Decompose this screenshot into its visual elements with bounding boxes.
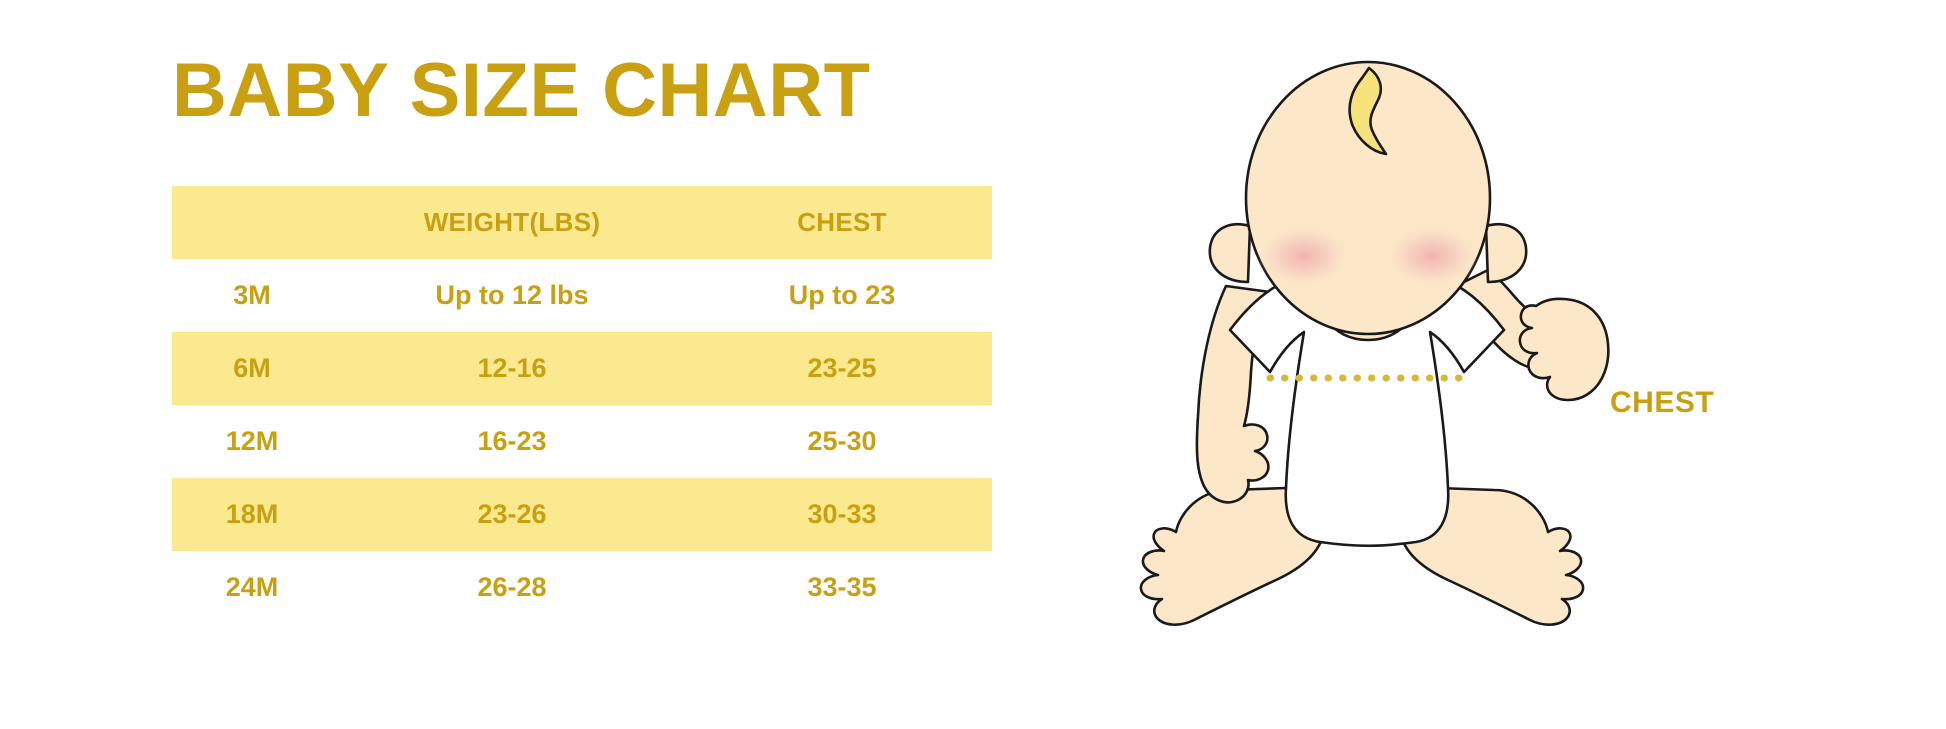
table-row: 12M 16-23 25-30 xyxy=(172,405,992,478)
illustration-panel: CHEST xyxy=(1080,0,1780,729)
header-weight: WEIGHT(LBS) xyxy=(332,186,692,259)
left-blush xyxy=(1256,224,1352,288)
header-chest: CHEST xyxy=(692,186,992,259)
right-fist xyxy=(1520,299,1608,400)
cell-age: 24M xyxy=(172,551,332,624)
size-chart-page: BABY SIZE CHART WEIGHT(LBS) CHEST 3M Up … xyxy=(0,0,1946,729)
table-header-row: WEIGHT(LBS) CHEST xyxy=(172,186,992,259)
header-age xyxy=(172,186,332,259)
cell-chest: Up to 23 xyxy=(692,259,992,332)
cell-chest: 33-35 xyxy=(692,551,992,624)
left-ear xyxy=(1210,224,1250,282)
cell-weight: Up to 12 lbs xyxy=(332,259,692,332)
cell-age: 12M xyxy=(172,405,332,478)
chart-panel: BABY SIZE CHART WEIGHT(LBS) CHEST 3M Up … xyxy=(0,0,1000,729)
cell-chest: 23-25 xyxy=(692,332,992,405)
cell-age: 18M xyxy=(172,478,332,551)
cell-age: 6M xyxy=(172,332,332,405)
right-ear xyxy=(1486,224,1526,282)
cell-weight: 16-23 xyxy=(332,405,692,478)
page-title: BABY SIZE CHART xyxy=(172,48,871,134)
table-row: 3M Up to 12 lbs Up to 23 xyxy=(172,259,992,332)
right-blush xyxy=(1384,224,1480,288)
cell-age: 3M xyxy=(172,259,332,332)
chest-annotation-label: CHEST xyxy=(1610,386,1714,420)
seated-baby-illustration xyxy=(1080,20,1640,680)
cell-chest: 30-33 xyxy=(692,478,992,551)
size-table: WEIGHT(LBS) CHEST 3M Up to 12 lbs Up to … xyxy=(172,186,992,624)
cell-weight: 26-28 xyxy=(332,551,692,624)
cell-chest: 25-30 xyxy=(692,405,992,478)
table-row: 24M 26-28 33-35 xyxy=(172,551,992,624)
cell-weight: 12-16 xyxy=(332,332,692,405)
cell-weight: 23-26 xyxy=(332,478,692,551)
table-row: 6M 12-16 23-25 xyxy=(172,332,992,405)
table-row: 18M 23-26 30-33 xyxy=(172,478,992,551)
